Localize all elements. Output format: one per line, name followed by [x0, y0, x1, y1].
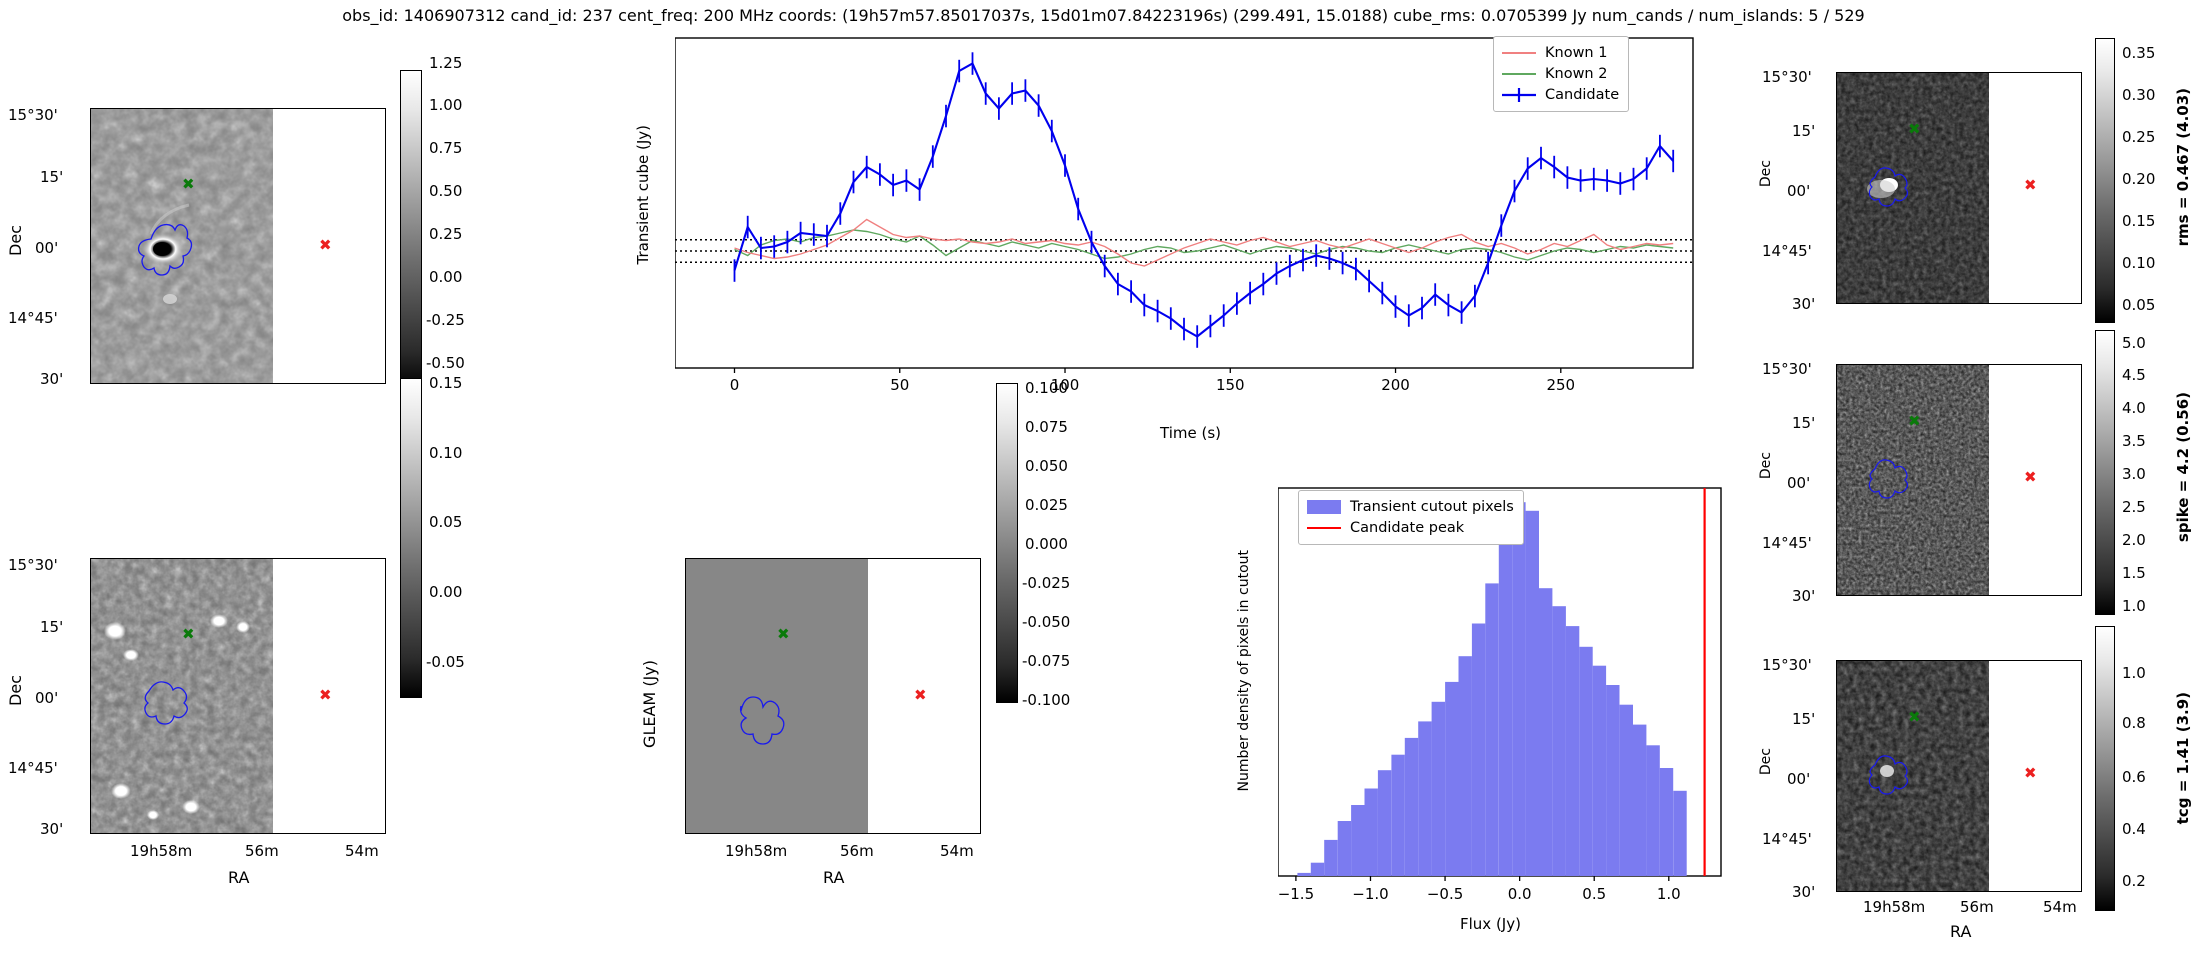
rms-ytick-3: 14°45': [1762, 242, 1812, 260]
transient-cbar-tick-5: 0.00: [429, 268, 462, 286]
svg-text:100: 100: [1051, 376, 1080, 394]
deep-cbar-tick-3: 0.00: [429, 583, 462, 601]
deep-red-x-marker: ✖: [319, 688, 332, 703]
transient-ytick-0: 15°30': [8, 106, 58, 124]
tcg-xtick-1: 56m: [1960, 898, 1994, 916]
legend-item-known2[interactable]: Known 2: [1502, 63, 1619, 84]
gleam-xtick-0: 19h58m: [725, 842, 787, 860]
spike-colorbar: [2095, 330, 2115, 615]
peak-line-swatch: [1307, 527, 1341, 529]
spike-cbar-label: spike = 4.2 (0.56): [2174, 392, 2192, 542]
gleam-xtick-1: 56m: [840, 842, 874, 860]
spike-cbar-tick-1: 4.5: [2122, 366, 2146, 384]
legend-item-cutout-pixels[interactable]: Transient cutout pixels: [1307, 496, 1514, 517]
candidate-errorbar-swatch: [1502, 88, 1536, 102]
rms-green-x-marker: ✖: [1908, 122, 1921, 137]
tcg-cbar-tick-4: 0.2: [2122, 872, 2146, 890]
transient-cbar-tick-4: 0.25: [429, 225, 462, 243]
transient-cbar-tick-0: 1.25: [429, 54, 462, 72]
transient-contour: [91, 109, 273, 383]
spike-red-x-marker: ✖: [2024, 470, 2037, 485]
gleam-cbar-tick-7: -0.075: [1022, 652, 1070, 670]
panel-rms-image: 15°30' 15' 00' 14°45' 30' Dec ✖ ✖ 0.35 0…: [1770, 30, 2207, 340]
gleam-cbar-tick-3: 0.025: [1025, 496, 1068, 514]
deep-cbar-tick-4: -0.05: [426, 653, 465, 671]
tcg-red-x-marker: ✖: [2024, 766, 2037, 781]
transient-colorbar: [400, 70, 422, 390]
transient-cbar-tick-3: 0.50: [429, 182, 462, 200]
transient-cbar-tick-2: 0.75: [429, 139, 462, 157]
svg-text:0.5: 0.5: [1582, 885, 1606, 903]
tcg-cbar-tick-2: 0.6: [2122, 768, 2146, 786]
rms-ytick-4: 30': [1792, 295, 1815, 313]
legend-item-candidate[interactable]: Candidate: [1502, 84, 1619, 105]
transient-cbar-tick-1: 1.00: [429, 96, 462, 114]
deep-ytick-1: 15': [40, 618, 63, 636]
tcg-xtick-2: 54m: [2043, 898, 2077, 916]
deep-xtick-1: 56m: [245, 842, 279, 860]
gleam-contour: [686, 559, 868, 833]
svg-text:200: 200: [1381, 376, 1410, 394]
gleam-green-x-marker: ✖: [777, 627, 790, 642]
known1-line-swatch: [1502, 52, 1536, 54]
tcg-contour: [1837, 661, 1989, 891]
histogram-fill-swatch: [1307, 500, 1341, 514]
svg-text:0: 0: [730, 376, 740, 394]
page-title: obs_id: 1406907312 cand_id: 237 cent_fre…: [0, 6, 2207, 25]
spike-ytick-0: 15°30': [1762, 360, 1812, 378]
transient-green-x-marker: ✖: [182, 177, 195, 192]
rms-colorbar: [2095, 38, 2115, 323]
tcg-cbar-tick-3: 0.4: [2122, 820, 2146, 838]
tcg-ytick-4: 30': [1792, 883, 1815, 901]
panel-transient-image: 15°30' 15' 00' 14°45' 30' Dec: [0, 40, 470, 390]
gleam-ylabel: GLEAM (Jy): [640, 660, 659, 748]
deep-cbar-tick-0: 0.15: [429, 374, 462, 392]
deep-colorbar: [400, 378, 422, 698]
panel-flux-histogram: Number density of pixels in cutout Flux …: [1230, 480, 1760, 950]
tcg-cbar-tick-1: 0.8: [2122, 714, 2146, 732]
transient-ytick-2: 00': [35, 239, 58, 257]
gleam-cbar-tick-6: -0.050: [1022, 613, 1070, 631]
transient-ytick-1: 15': [40, 168, 63, 186]
histogram-ylabel: Number density of pixels in cutout: [1236, 550, 1252, 792]
svg-text:50: 50: [890, 376, 909, 394]
svg-text:1.0: 1.0: [1657, 885, 1681, 903]
spike-cbar-tick-4: 3.0: [2122, 465, 2146, 483]
deep-cbar-tick-1: 0.10: [429, 444, 462, 462]
tcg-green-x-marker: ✖: [1908, 710, 1921, 725]
deep-xtick-2: 54m: [345, 842, 379, 860]
tcg-ytick-3: 14°45': [1762, 830, 1812, 848]
spike-contour: [1837, 365, 1989, 595]
transient-red-x-marker: ✖: [319, 238, 332, 253]
tcg-cbar-label: tcg = 1.41 (3.9): [2174, 692, 2192, 824]
rms-cbar-tick-4: 0.15: [2122, 212, 2155, 230]
legend-item-known1[interactable]: Known 1: [1502, 42, 1619, 63]
panel-lightcurve: Transient cube (Jy) Time (s) 05010015020…: [620, 30, 1770, 470]
gleam-cbar-tick-8: -0.100: [1022, 691, 1070, 709]
panel-deep-image: 15°30' 15' 00' 14°45' 30' Dec: [0, 490, 470, 920]
svg-text:250: 250: [1546, 376, 1575, 394]
deep-cbar-tick-2: 0.05: [429, 513, 462, 531]
spike-ylabel: Dec: [1758, 452, 1774, 479]
gleam-red-x-marker: ✖: [914, 688, 927, 703]
panel-gleam-image: GLEAM (Jy) ✖ ✖ 19h58m 56m 54m RA 0.100 0…: [620, 490, 1180, 920]
deep-ytick-3: 14°45': [8, 759, 58, 777]
legend-item-candidate-peak[interactable]: Candidate peak: [1307, 517, 1514, 538]
rms-cbar-tick-0: 0.35: [2122, 44, 2155, 62]
legend-label-known1: Known 1: [1545, 45, 1607, 61]
lightcurve-legend[interactable]: Known 1 Known 2 Candidate: [1493, 36, 1629, 112]
transient-cbar-tick-7: -0.50: [426, 354, 465, 372]
legend-label-known2: Known 2: [1545, 66, 1607, 82]
rms-contour: [1837, 73, 1989, 303]
rms-cbar-tick-1: 0.30: [2122, 86, 2155, 104]
spike-ytick-2: 00': [1787, 474, 1810, 492]
spike-cbar-tick-6: 2.0: [2122, 531, 2146, 549]
deep-ytick-0: 15°30': [8, 556, 58, 574]
tcg-xtick-0: 19h58m: [1863, 898, 1925, 916]
histogram-legend[interactable]: Transient cutout pixels Candidate peak: [1298, 490, 1524, 545]
gleam-cbar-tick-5: -0.025: [1022, 574, 1070, 592]
tcg-ytick-0: 15°30': [1762, 656, 1812, 674]
rms-cbar-tick-6: 0.05: [2122, 296, 2155, 314]
known2-line-swatch: [1502, 73, 1536, 75]
legend-label-candidate-peak: Candidate peak: [1350, 520, 1464, 536]
gleam-xlabel: RA: [823, 868, 844, 887]
svg-text:−1.0: −1.0: [1352, 885, 1388, 903]
rms-cbar-tick-5: 0.10: [2122, 254, 2155, 272]
svg-text:150: 150: [1216, 376, 1245, 394]
rms-ytick-2: 00': [1787, 182, 1810, 200]
rms-red-x-marker: ✖: [2024, 178, 2037, 193]
legend-label-candidate: Candidate: [1545, 87, 1619, 103]
deep-xtick-0: 19h58m: [130, 842, 192, 860]
deep-ylabel: Dec: [6, 675, 25, 706]
spike-ytick-1: 15': [1792, 414, 1815, 432]
transient-ytick-4: 30': [40, 370, 63, 388]
tcg-colorbar: [2095, 626, 2115, 911]
transient-cbar-tick-6: -0.25: [426, 311, 465, 329]
legend-label-cutout-pixels: Transient cutout pixels: [1350, 499, 1514, 515]
rms-ytick-0: 15°30': [1762, 68, 1812, 86]
spike-cbar-tick-3: 3.5: [2122, 432, 2146, 450]
svg-text:−1.5: −1.5: [1278, 885, 1314, 903]
spike-cbar-tick-0: 5.0: [2122, 334, 2146, 352]
spike-ytick-4: 30': [1792, 587, 1815, 605]
gleam-cbar-tick-4: 0.000: [1025, 535, 1068, 553]
gleam-xtick-2: 54m: [940, 842, 974, 860]
spike-ytick-3: 14°45': [1762, 534, 1812, 552]
rms-ylabel: Dec: [1758, 160, 1774, 187]
svg-text:0.0: 0.0: [1508, 885, 1532, 903]
transient-ylabel: Dec: [6, 225, 25, 256]
lightcurve-ylabel: Transient cube (Jy): [634, 125, 652, 264]
rms-cbar-tick-2: 0.25: [2122, 128, 2155, 146]
deep-contour: [91, 559, 273, 833]
deep-ytick-4: 30': [40, 820, 63, 838]
transient-ytick-3: 14°45': [8, 309, 58, 327]
spike-cbar-tick-2: 4.0: [2122, 399, 2146, 417]
deep-xlabel: RA: [228, 868, 249, 887]
spike-cbar-tick-8: 1.0: [2122, 597, 2146, 615]
deep-green-x-marker: ✖: [182, 627, 195, 642]
tcg-xlabel: RA: [1950, 922, 1971, 941]
rms-cbar-label: rms = 0.467 (4.03): [2174, 88, 2192, 246]
spike-cbar-tick-7: 1.5: [2122, 564, 2146, 582]
tcg-ytick-1: 15': [1792, 710, 1815, 728]
rms-ytick-1: 15': [1792, 122, 1815, 140]
histogram-plot-area: −1.5−1.0−0.50.00.51.010010−110−210−310−4: [1278, 480, 1783, 920]
panel-tcg-image: 15°30' 15' 00' 14°45' 30' Dec ✖ ✖ 19h58m…: [1770, 620, 2207, 959]
tcg-cbar-tick-0: 1.0: [2122, 664, 2146, 682]
rms-cbar-tick-3: 0.20: [2122, 170, 2155, 188]
deep-ytick-2: 00': [35, 689, 58, 707]
tcg-ytick-2: 00': [1787, 770, 1810, 788]
svg-text:−0.5: −0.5: [1427, 885, 1463, 903]
panel-spike-image: 15°30' 15' 00' 14°45' 30' Dec ✖ ✖ 5.0 4.…: [1770, 330, 2207, 630]
spike-green-x-marker: ✖: [1908, 414, 1921, 429]
spike-cbar-tick-5: 2.5: [2122, 498, 2146, 516]
tcg-ylabel: Dec: [1758, 748, 1774, 775]
